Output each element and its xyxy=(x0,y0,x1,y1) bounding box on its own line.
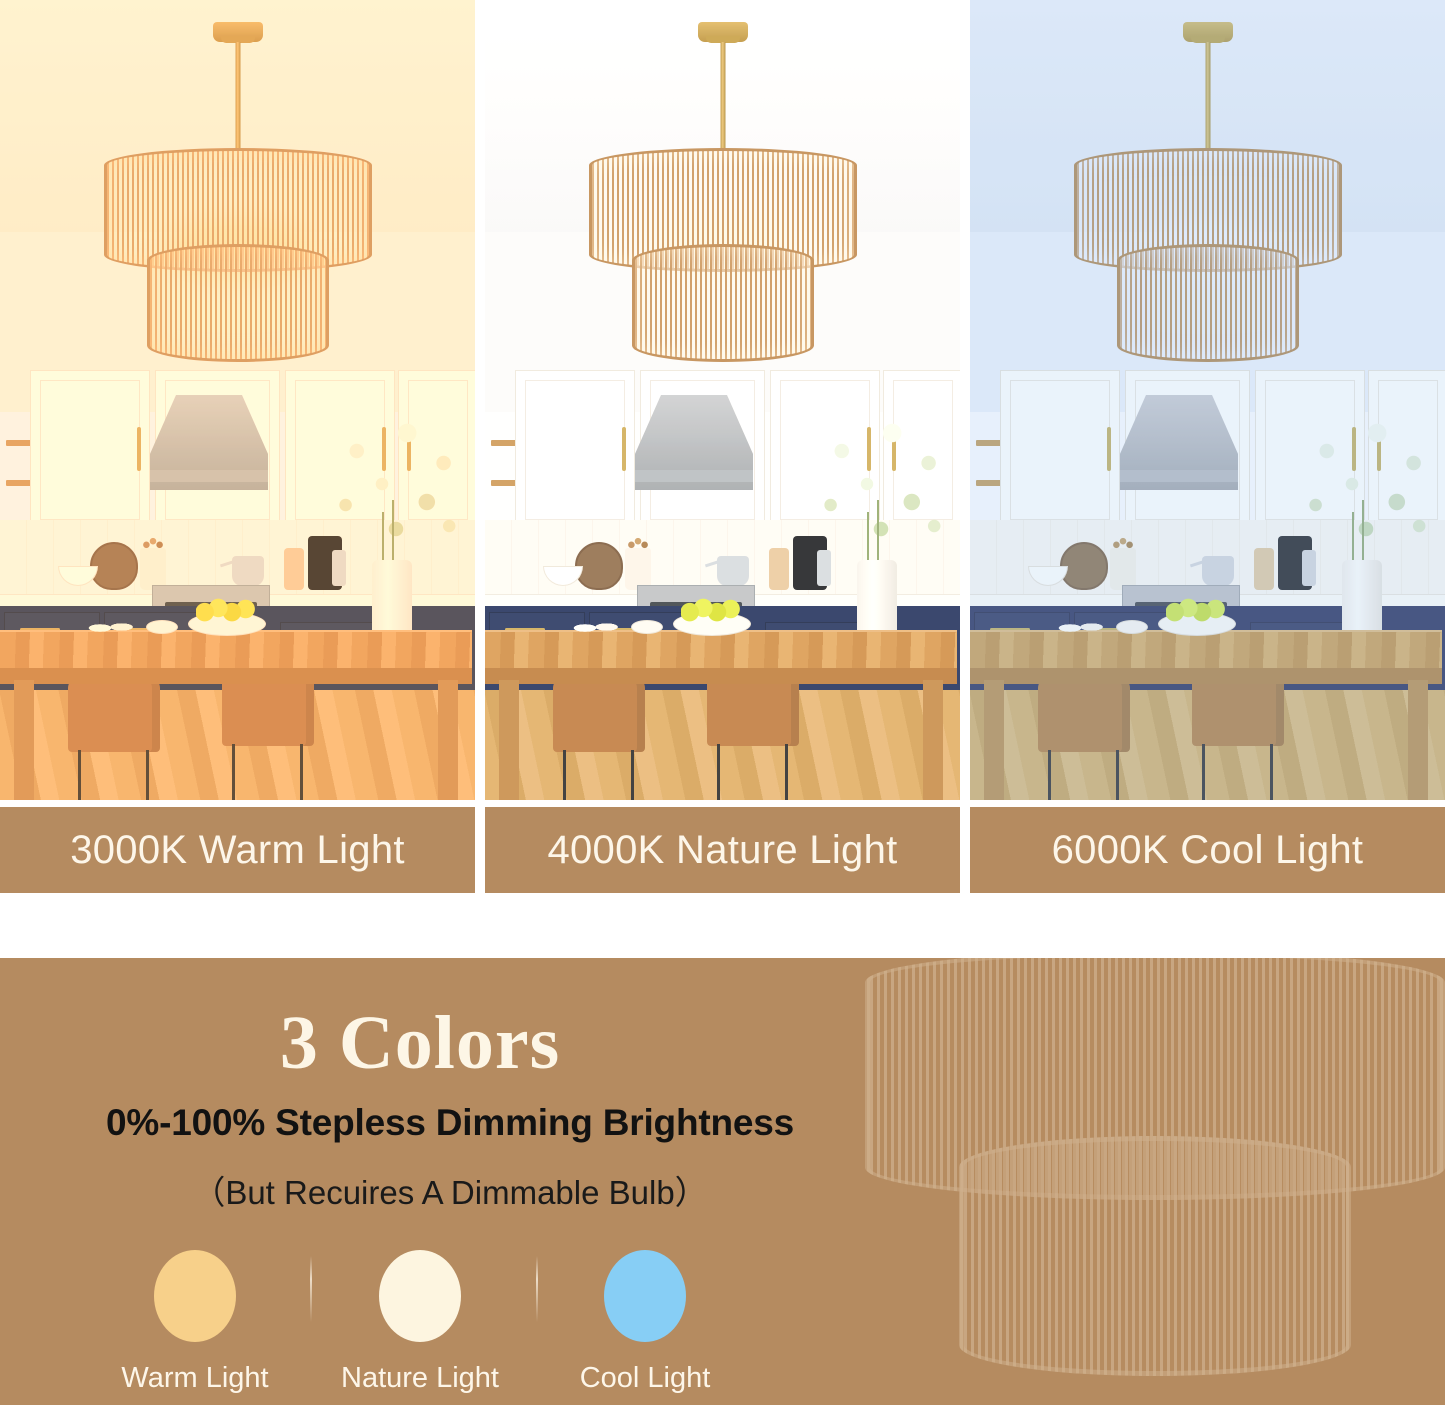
comparison-panel-warm: 3000K Warm Light xyxy=(0,0,475,893)
kitchen-photo-warm xyxy=(0,0,475,800)
ghost-chandelier-graphic xyxy=(845,958,1445,1405)
feature-note: （But Recuires A Dimmable Bulb） xyxy=(0,1166,900,1214)
lemons xyxy=(1166,596,1228,622)
panel-label-warm: 3000K Warm Light xyxy=(70,828,405,873)
kitchen-island xyxy=(970,630,1442,672)
saucers xyxy=(146,620,178,634)
color-temperature-comparison: 3000K Warm Light xyxy=(0,0,1445,893)
jar xyxy=(769,548,789,590)
comparison-panel-cool: 6000K Cool Light xyxy=(970,0,1445,893)
kettle xyxy=(232,556,264,586)
kitchen-photo-nature xyxy=(485,0,960,800)
island-leg xyxy=(984,680,1004,800)
island-leg xyxy=(1408,680,1428,800)
panel-label-band-nature: 4000K Nature Light xyxy=(485,807,960,893)
mugs xyxy=(573,616,621,636)
upper-cabinet xyxy=(515,370,635,530)
island-edge xyxy=(485,668,957,684)
bar-stool xyxy=(1038,678,1130,752)
rattan-chandelier xyxy=(589,22,857,392)
panel-label-nature: 4000K Nature Light xyxy=(547,828,897,873)
ceiling-canopy xyxy=(1183,22,1233,42)
utensil-crock xyxy=(1110,548,1136,590)
swatch-warm-light[interactable]: Warm Light xyxy=(100,1250,290,1395)
range-hood-lip xyxy=(635,470,753,482)
cool-light-label: Cool Light xyxy=(550,1362,740,1395)
feature-title: 3 Colors xyxy=(0,1000,840,1087)
color-swatch-row: Warm Light Nature Light Cool Light xyxy=(100,1250,800,1400)
swatch-cool-light[interactable]: Cool Light xyxy=(550,1250,740,1395)
kitchen-photo-cool xyxy=(970,0,1445,800)
island-edge xyxy=(970,668,1442,684)
panel-label-band-cool: 6000K Cool Light xyxy=(970,807,1445,893)
rattan-chandelier xyxy=(1074,22,1342,392)
kitchen-island xyxy=(485,630,957,672)
product-feature-image: 3000K Warm Light xyxy=(0,0,1445,1405)
upper-cabinet xyxy=(1000,370,1120,530)
nature-light-dot xyxy=(379,1250,461,1342)
lemons xyxy=(196,596,258,622)
range-hood-lip xyxy=(150,470,268,482)
utensil-crock xyxy=(625,548,651,590)
feature-subtitle: 0%-100% Stepless Dimming Brightness xyxy=(0,1102,900,1144)
mugs xyxy=(1058,616,1106,636)
jar xyxy=(1254,548,1274,590)
bar-stool xyxy=(553,678,645,752)
island-leg xyxy=(923,680,943,800)
ceiling-canopy xyxy=(698,22,748,42)
swatch-divider xyxy=(536,1256,538,1322)
lemons xyxy=(681,596,743,622)
island-leg xyxy=(438,680,458,800)
flower-arrangement xyxy=(1296,418,1436,568)
warm-light-dot xyxy=(154,1250,236,1342)
rattan-chandelier xyxy=(104,22,372,392)
chandelier-lower-tier xyxy=(632,244,814,362)
kettle xyxy=(717,556,749,586)
bar-stool xyxy=(68,678,160,752)
range-hood-lip xyxy=(1120,470,1238,482)
comparison-panel-nature: 4000K Nature Light xyxy=(485,0,960,893)
suspension-rod xyxy=(235,42,240,150)
cool-light-dot xyxy=(604,1250,686,1342)
suspension-rod xyxy=(720,42,725,150)
swatch-nature-light[interactable]: Nature Light xyxy=(325,1250,515,1395)
saucers xyxy=(631,620,663,634)
ceiling-canopy xyxy=(213,22,263,42)
kettle xyxy=(1202,556,1234,586)
flower-arrangement xyxy=(811,418,951,568)
saucers xyxy=(1116,620,1148,634)
kitchen-island xyxy=(0,630,472,672)
jar xyxy=(284,548,304,590)
island-leg xyxy=(14,680,34,800)
utensil-crock xyxy=(140,548,166,590)
upper-cabinet xyxy=(30,370,150,530)
flower-arrangement xyxy=(326,418,466,568)
panel-label-band-warm: 3000K Warm Light xyxy=(0,807,475,893)
mugs xyxy=(88,616,136,636)
nature-light-label: Nature Light xyxy=(325,1362,515,1395)
chandelier-lower-tier xyxy=(147,244,329,362)
panel-label-cool: 6000K Cool Light xyxy=(1052,828,1364,873)
swatch-divider xyxy=(310,1256,312,1322)
warm-light-label: Warm Light xyxy=(100,1362,290,1395)
suspension-rod xyxy=(1205,42,1210,150)
island-leg xyxy=(499,680,519,800)
chandelier-lower-tier xyxy=(1117,244,1299,362)
island-edge xyxy=(0,668,472,684)
